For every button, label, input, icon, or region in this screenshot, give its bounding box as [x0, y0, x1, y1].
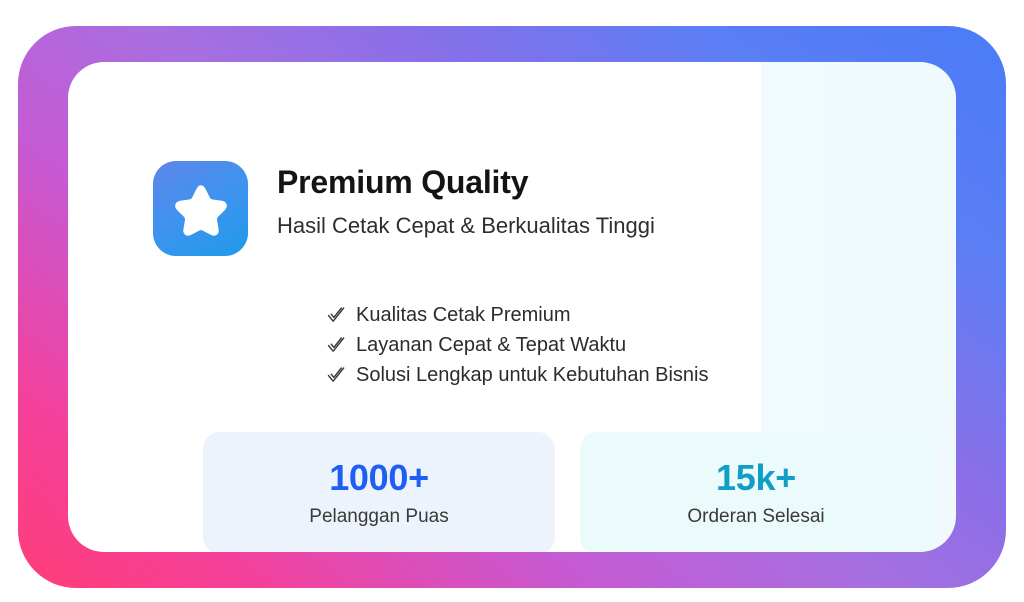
stat-card-customers: 1000+ Pelanggan Puas: [203, 432, 555, 552]
stat-label: Orderan Selesai: [687, 507, 824, 526]
list-item: Kualitas Cetak Premium: [326, 300, 708, 330]
feature-card: Premium Quality Hasil Cetak Cepat & Berk…: [68, 62, 956, 552]
page-title: Premium Quality: [277, 164, 655, 201]
feature-label: Kualitas Cetak Premium: [356, 300, 571, 330]
card-subtitle: Hasil Cetak Cepat & Berkualitas Tinggi: [277, 213, 655, 239]
list-item: Layanan Cepat & Tepat Waktu: [326, 330, 708, 360]
feature-label: Layanan Cepat & Tepat Waktu: [356, 330, 626, 360]
stat-label: Pelanggan Puas: [309, 507, 448, 526]
feature-list: Kualitas Cetak Premium Layanan Cepat & T…: [326, 300, 708, 390]
stat-card-orders: 15k+ Orderan Selesai: [580, 432, 932, 552]
check-outline-icon: [326, 365, 346, 385]
stat-value: 1000+: [329, 460, 429, 496]
feature-label: Solusi Lengkap untuk Kebutuhan Bisnis: [356, 360, 708, 390]
list-item: Solusi Lengkap untuk Kebutuhan Bisnis: [326, 360, 708, 390]
check-outline-icon: [326, 305, 346, 325]
check-outline-icon: [326, 335, 346, 355]
gradient-frame: Premium Quality Hasil Cetak Cepat & Berk…: [18, 26, 1006, 588]
header-text-block: Premium Quality Hasil Cetak Cepat & Berk…: [277, 158, 655, 239]
card-header: Premium Quality Hasil Cetak Cepat & Berk…: [153, 158, 655, 256]
star-icon: [153, 161, 248, 256]
stat-value: 15k+: [716, 460, 796, 496]
